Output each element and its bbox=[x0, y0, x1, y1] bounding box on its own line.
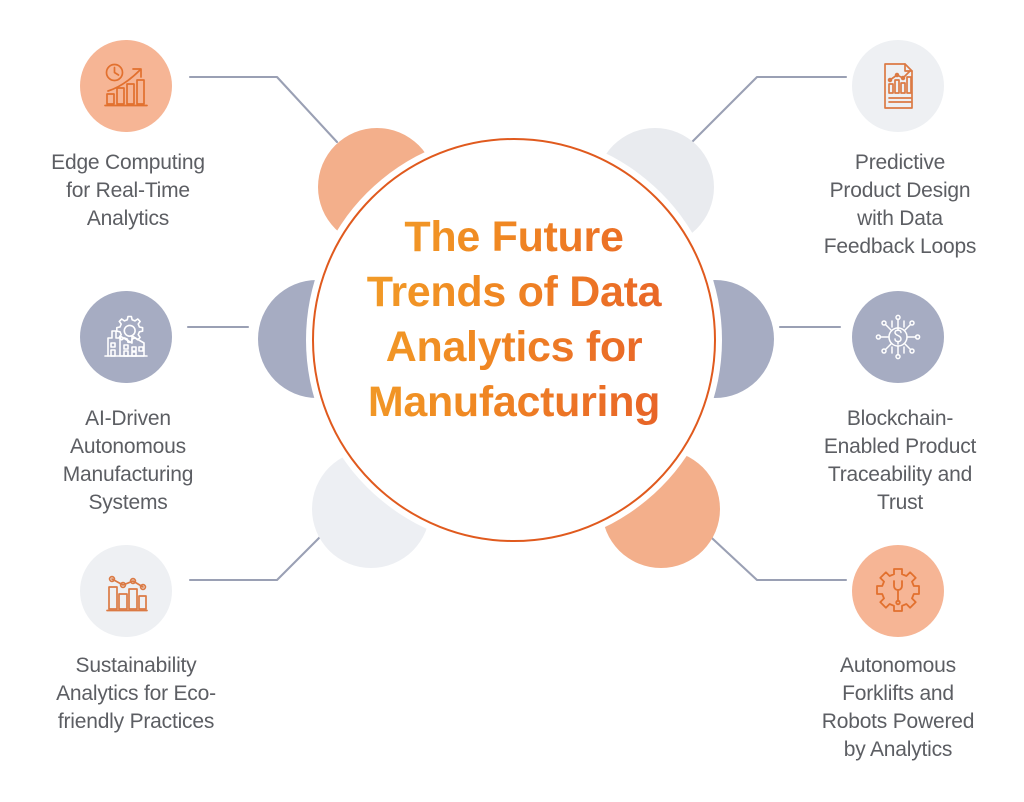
label-line: Autonomous bbox=[12, 433, 244, 461]
label-line: Feedback Loops bbox=[784, 233, 1016, 261]
connector-top-right bbox=[692, 77, 846, 142]
blockchain-network-dollar-icon bbox=[870, 309, 926, 365]
node-icon-edge-computing[interactable] bbox=[80, 40, 172, 132]
hub-title-line-1: The Future bbox=[342, 210, 686, 265]
node-icon-sustainability-analytics[interactable] bbox=[80, 545, 172, 637]
label-line: Robots Powered bbox=[780, 708, 1016, 736]
label-line: for Real-Time bbox=[12, 177, 244, 205]
node-icon-ai-driven-manufacturing[interactable] bbox=[80, 291, 172, 383]
gear-wrench-icon bbox=[870, 563, 926, 619]
chart-growth-clock-icon bbox=[98, 58, 154, 114]
label-line: Analytics for Eco- bbox=[12, 680, 260, 708]
node-label-predictive-product-design: Predictive Product Design with Data Feed… bbox=[784, 149, 1016, 261]
label-line: Traceability and bbox=[784, 461, 1016, 489]
hub-title-line-2: Trends of Data bbox=[342, 265, 686, 320]
hub-title: The Future Trends of Data Analytics for … bbox=[342, 210, 686, 430]
node-icon-autonomous-forklifts[interactable] bbox=[852, 545, 944, 637]
connector-bottom-left bbox=[190, 527, 330, 580]
node-icon-blockchain-traceability[interactable] bbox=[852, 291, 944, 383]
label-line: Forklifts and bbox=[780, 680, 1016, 708]
connector-bottom-right bbox=[700, 527, 846, 580]
label-line: with Data bbox=[784, 205, 1016, 233]
node-label-ai-driven-manufacturing: AI-Driven Autonomous Manufacturing Syste… bbox=[12, 405, 244, 517]
node-label-blockchain-traceability: Blockchain- Enabled Product Traceability… bbox=[784, 405, 1016, 517]
label-line: Product Design bbox=[784, 177, 1016, 205]
hub-title-line-3: Analytics for bbox=[342, 320, 686, 375]
label-line: Trust bbox=[784, 489, 1016, 517]
label-line: by Analytics bbox=[780, 736, 1016, 764]
label-line: Analytics bbox=[12, 205, 244, 233]
label-line: Autonomous bbox=[780, 652, 1016, 680]
label-line: Blockchain- bbox=[784, 405, 1016, 433]
hub-title-line-4: Manufacturing bbox=[342, 375, 686, 430]
node-label-autonomous-forklifts: Autonomous Forklifts and Robots Powered … bbox=[780, 652, 1016, 764]
infographic-canvas: The Future Trends of Data Analytics for … bbox=[0, 0, 1024, 802]
bar-chart-line-icon bbox=[98, 563, 154, 619]
label-line: Systems bbox=[12, 489, 244, 517]
label-line: AI-Driven bbox=[12, 405, 244, 433]
label-line: friendly Practices bbox=[12, 708, 260, 736]
label-line: Sustainability bbox=[12, 652, 260, 680]
node-icon-predictive-product-design[interactable] bbox=[852, 40, 944, 132]
label-line: Manufacturing bbox=[12, 461, 244, 489]
report-document-chart-icon bbox=[870, 58, 926, 114]
node-label-edge-computing: Edge Computing for Real-Time Analytics bbox=[12, 149, 244, 233]
node-label-sustainability-analytics: Sustainability Analytics for Eco- friend… bbox=[12, 652, 260, 736]
label-line: Predictive bbox=[784, 149, 1016, 177]
factory-gear-icon bbox=[98, 309, 154, 365]
connector-top-left bbox=[190, 77, 337, 142]
label-line: Enabled Product bbox=[784, 433, 1016, 461]
label-line: Edge Computing bbox=[12, 149, 244, 177]
